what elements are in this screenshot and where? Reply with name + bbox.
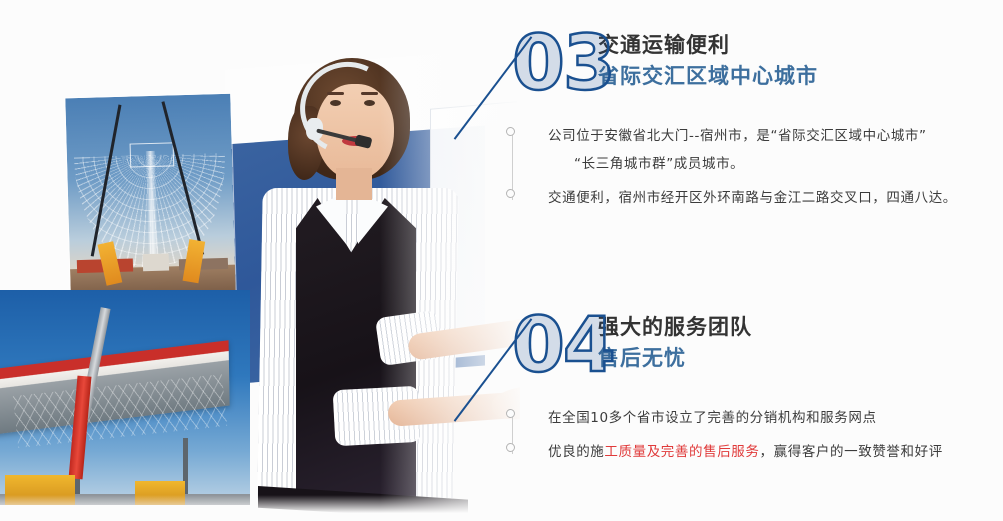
list-item: 交通便利，宿州市经开区外环南路与金江二路交叉口，四通八达。 <box>530 184 957 212</box>
bullet-circle-icon <box>506 189 515 198</box>
section-04-bullet-list: 在全国10多个省市设立了完善的分销机构和服务网点 优良的施工质量及完善的售后服务… <box>506 404 943 466</box>
list-item: 在全国10多个省市设立了完善的分销机构和服务网点 <box>530 404 943 432</box>
bullet-circle-icon <box>506 443 515 452</box>
bullet-text-wrap: 公司位于安徽省北大门--宿州市，是“省际交汇区域中心城市” “长三角城市群”成员… <box>530 122 927 178</box>
bullet-text-line-1: 公司位于安徽省北大门--宿州市，是“省际交汇区域中心城市” <box>548 122 927 150</box>
section-03-header: 03 交通运输便利 省际交汇区域中心城市 <box>506 30 957 108</box>
bullet-text-wrap: 交通便利，宿州市经开区外环南路与金江二路交叉口，四通八达。 <box>530 184 957 212</box>
bullet-text-line-2: “长三角城市群”成员城市。 <box>548 150 927 178</box>
section-04-header: 04 强大的服务团队 售后无忧 <box>506 312 943 390</box>
bullet-text-rich: 优良的施工质量及完善的售后服务，赢得客户的一致赞誉和好评 <box>548 438 943 466</box>
section-number: 03 <box>512 24 614 102</box>
section-03-number-badge: 03 <box>506 30 596 108</box>
site-building-2 <box>142 253 169 271</box>
section-title: 强大的服务团队 <box>598 312 752 342</box>
red-canopy-photo <box>0 290 250 505</box>
section-03-heading-text: 交通运输便利 省际交汇区域中心城市 <box>596 30 818 92</box>
list-item: 公司位于安徽省北大门--宿州市，是“省际交汇区域中心城市” “长三角城市群”成员… <box>530 122 957 178</box>
neck <box>336 168 372 200</box>
bullet-text-pre: 优良的施 <box>548 444 604 460</box>
call-center-agent-figure <box>238 56 478 506</box>
section-subtitle: 售后无忧 <box>598 342 752 374</box>
bullet-text-line-1: 交通便利，宿州市经开区外环南路与金江二路交叉口，四通八达。 <box>548 184 957 212</box>
section-04-number-badge: 04 <box>506 312 596 390</box>
section-subtitle: 省际交汇区域中心城市 <box>598 60 818 92</box>
section-number: 04 <box>512 306 614 384</box>
yellow-crane-truck-2 <box>135 481 185 505</box>
list-item: 优良的施工质量及完善的售后服务，赢得客户的一致赞誉和好评 <box>530 438 943 466</box>
bullet-text-highlight: 工质量及完善的售后服务 <box>604 444 759 460</box>
bullet-text-wrap: 优良的施工质量及完善的售后服务，赢得客户的一致赞誉和好评 <box>530 438 943 466</box>
bullet-text-line-1: 在全国10多个省市设立了完善的分销机构和服务网点 <box>548 404 877 432</box>
section-03-bullet-list: 公司位于安徽省北大门--宿州市，是“省际交汇区域中心城市” “长三角城市群”成员… <box>506 122 957 212</box>
yellow-crane-truck-1 <box>5 475 75 505</box>
photo-collage <box>0 0 520 521</box>
bullet-circle-icon <box>506 127 515 136</box>
section-title: 交通运输便利 <box>598 30 818 60</box>
bullet-text-post: ，赢得客户的一致赞誉和好评 <box>760 444 943 460</box>
section-03: 03 交通运输便利 省际交汇区域中心城市 公司位于安徽省北大门--宿州市，是“省… <box>506 30 957 218</box>
section-04: 04 强大的服务团队 售后无忧 在全国10多个省市设立了完善的分销机构和服务网点… <box>506 312 943 472</box>
promo-banner: 03 交通运输便利 省际交汇区域中心城市 公司位于安徽省北大门--宿州市，是“省… <box>0 0 1003 521</box>
section-04-heading-text: 强大的服务团队 售后无忧 <box>596 312 752 374</box>
bullet-text-wrap: 在全国10多个省市设立了完善的分销机构和服务网点 <box>530 404 877 432</box>
steel-dome-photo <box>65 94 235 296</box>
bullet-circle-icon <box>506 409 515 418</box>
